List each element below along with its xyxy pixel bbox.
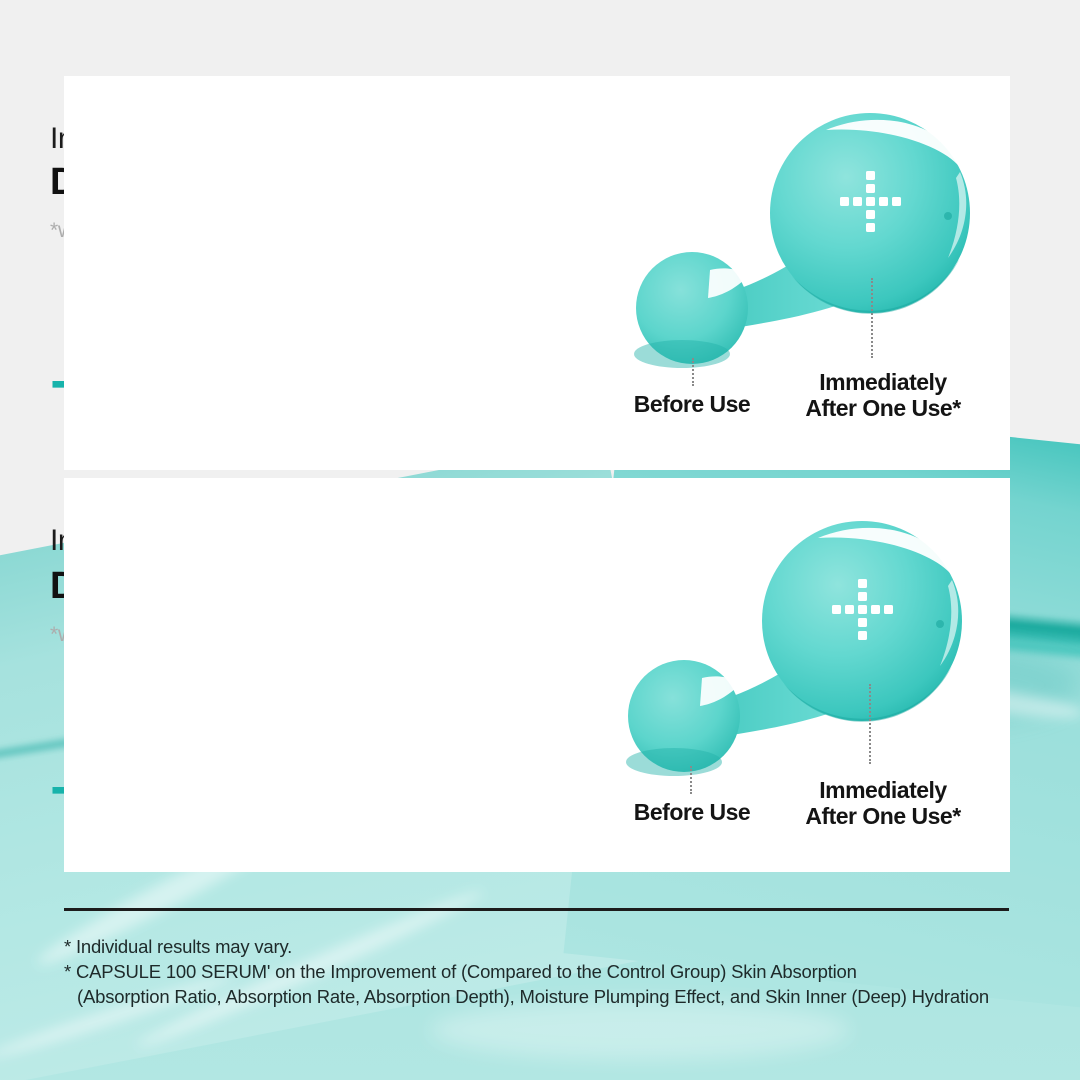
gel-sheen-pool (430, 1000, 850, 1060)
footnotes: * Individual results may vary. * CAPSULE… (64, 934, 1024, 1009)
leader-line-before-1 (692, 358, 694, 386)
label-after-use-1-line2: After One Use* (788, 396, 978, 422)
leader-line-before-2 (690, 766, 692, 794)
leader-line-after-1 (871, 278, 873, 358)
leader-line-after-2 (869, 684, 871, 764)
footer-divider-rule (64, 908, 1009, 911)
footnote-line-3: (Absorption Ratio, Absorption Rate, Abso… (64, 984, 1024, 1009)
label-after-use-1-line1: Immediately (788, 370, 978, 396)
label-before-use-1: Before Use (612, 392, 772, 418)
label-after-use-1: Immediately After One Use* (788, 370, 978, 422)
label-after-use-2-line2: After One Use* (788, 804, 978, 830)
footnote-line-2: * CAPSULE 100 SERUM' on the Improvement … (64, 959, 1024, 984)
label-after-use-2: Immediately After One Use* (788, 778, 978, 830)
footnote-line-1: * Individual results may vary. (64, 934, 1024, 959)
label-after-use-2-line1: Immediately (788, 778, 978, 804)
label-before-use-2: Before Use (612, 800, 772, 826)
